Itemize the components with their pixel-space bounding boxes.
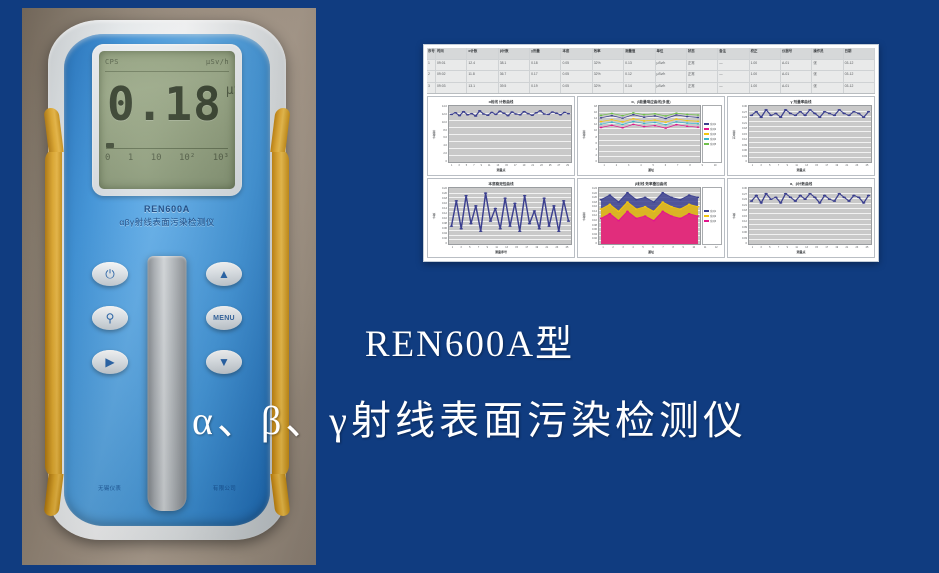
chart-y-tick: 0.14	[587, 210, 597, 213]
chart-data-point	[688, 204, 691, 206]
chart-y-tick: 0.14	[437, 207, 447, 210]
chart-legend: 系列1系列2系列3	[702, 187, 722, 245]
chart-data-point	[679, 208, 682, 210]
slide-canvas: CPS μSv/h 0.18 μSv/h 011010²10³	[0, 0, 939, 573]
table-cell: 09:03	[436, 83, 467, 94]
chart-data-point	[697, 117, 700, 119]
chart-y-tick: 2.0	[437, 152, 447, 155]
chart-data-point	[675, 121, 678, 123]
chart-data-point	[764, 193, 767, 195]
chart-data-point	[653, 125, 656, 127]
chart-data-point	[621, 124, 624, 126]
chart-data-point	[664, 124, 667, 126]
chart-y-axis-label: 计数率	[580, 105, 587, 163]
table-cell: 0.05	[561, 60, 592, 71]
chart-y-tick: 0.22	[437, 187, 447, 190]
chart-y-tick: 0.20	[587, 196, 597, 199]
chart-data-point	[670, 197, 673, 199]
table-header-cell: 操作员	[812, 48, 843, 59]
chart-series-line	[751, 110, 868, 117]
chart-legend-label: 系列2	[710, 214, 716, 218]
chart-y-axis-label: 计数	[430, 187, 437, 245]
chart-y-tick: 14.0	[437, 105, 447, 108]
table-row: 序号时间α计数β计数γ剂量本底效率测量值单位状态备注校正仪器号操作员日期	[427, 48, 875, 60]
title-block: REN600A型 α、β、γ射线表面污染检测仪	[0, 318, 939, 454]
table-header-cell: 时间	[436, 48, 467, 59]
table-cell: 11.8	[467, 71, 498, 82]
chart-panel: 本底稳定性曲线计数0.220.200.180.160.140.120.100.0…	[427, 178, 575, 258]
chart-legend-label: 系列5	[710, 142, 716, 146]
chart-panel: β射线 效率叠加曲线计数率0.240.220.200.180.160.140.1…	[577, 178, 725, 258]
chart-data-point	[833, 115, 836, 117]
lcd-reading: 0.18 μSv/h	[107, 75, 229, 133]
chart-data-point	[455, 200, 458, 202]
chart-y-ticks: 0.300.270.240.210.180.150.120.090.060.03…	[737, 105, 748, 163]
table-cell: 36.7	[499, 71, 530, 82]
lcd-screen: CPS μSv/h 0.18 μSv/h 011010²10³	[99, 51, 235, 189]
chart-y-tick: 0.12	[737, 220, 747, 223]
chart-data-point	[794, 200, 797, 202]
chart-data-point	[794, 115, 797, 117]
chart-legend-swatch	[704, 143, 709, 146]
chart-series-line	[601, 115, 698, 119]
table-header-cell: γ剂量	[530, 48, 561, 59]
chart-y-tick: 0.12	[737, 138, 747, 141]
charts-grid: α射线 计数曲线计数率14.012.010.08.06.04.02.001357…	[427, 96, 875, 258]
table-cell: A-01	[781, 83, 812, 94]
chart-data-point	[632, 124, 635, 126]
chart-legend-swatch	[704, 123, 709, 126]
chart-data-point	[697, 126, 700, 128]
chart-data-point	[608, 204, 611, 206]
chart-y-tick: 0.27	[737, 111, 747, 114]
chart-y-tick: 0.24	[737, 198, 747, 201]
chart-data-point	[653, 115, 656, 117]
chart-data-point	[686, 122, 689, 124]
chart-y-tick: 8	[587, 136, 597, 139]
table-cell: 09:01	[436, 60, 467, 71]
chart-legend-item: 系列1	[704, 122, 720, 126]
chart-data-point	[510, 111, 513, 113]
table-header-cell: 状态	[687, 48, 718, 59]
chart-data-point	[653, 122, 656, 124]
lcd-bezel: CPS μSv/h 0.18 μSv/h 011010²10³	[92, 44, 242, 196]
table-cell: A-01	[781, 60, 812, 71]
chart-y-tick: 0.22	[587, 192, 597, 195]
chart-data-point	[552, 205, 555, 207]
chart-data-point	[697, 206, 700, 208]
chart-y-tick: 0.15	[737, 133, 747, 136]
chart-data-point	[626, 211, 629, 213]
chart-y-tick: 0.16	[437, 202, 447, 205]
chart-data-point	[458, 115, 461, 117]
chart-panel: α射线 计数曲线计数率14.012.010.08.06.04.02.001357…	[427, 96, 575, 176]
product-photo: CPS μSv/h 0.18 μSv/h 011010²10³	[22, 8, 316, 565]
table-header-cell: 日期	[844, 48, 875, 59]
table-cell: 3	[427, 83, 436, 94]
lcd-divider	[105, 71, 229, 72]
table-header-cell: 备注	[718, 48, 749, 59]
chart-data-point	[653, 119, 656, 121]
chart-data-point	[450, 225, 453, 227]
spreadsheet-table: 序号时间α计数β计数γ剂量本底效率测量值单位状态备注校正仪器号操作员日期109:…	[427, 48, 875, 94]
chart-legend-label: 系列3	[710, 132, 716, 136]
chart-plot-area	[598, 187, 701, 245]
chart-data-point	[484, 192, 487, 194]
device-subtitle-label: αβγ射线表面污染检测仪	[64, 216, 270, 228]
table-cell: 32%	[593, 71, 624, 82]
chart-y-tick: 0.06	[737, 149, 747, 152]
chart-data-point	[514, 113, 517, 115]
table-cell: μSv/h	[656, 71, 687, 82]
table-header-cell: 本底	[561, 48, 592, 59]
chart-data-point	[600, 115, 603, 117]
chart-data-point	[643, 123, 646, 125]
chart-data-point	[632, 112, 635, 114]
chart-data-point	[847, 200, 850, 202]
chart-data-point	[600, 127, 603, 129]
chart-data-point	[600, 199, 603, 201]
table-cell: 1.00	[750, 83, 781, 94]
lcd-scale-tick: 10²	[179, 153, 195, 163]
chart-y-ticks: 0.240.220.200.180.160.140.120.100.080.06…	[587, 187, 598, 245]
chart-data-point	[803, 198, 806, 200]
chart-data-point	[621, 121, 624, 123]
chart-data-point	[551, 111, 554, 113]
chart-data-point	[697, 215, 700, 217]
chart-data-point	[675, 118, 678, 120]
chart-y-tick: 0.21	[737, 122, 747, 125]
device-model-label: REN600A	[64, 204, 270, 214]
chart-data-point	[852, 111, 855, 113]
chart-data-point	[632, 114, 635, 116]
chart-data-point	[838, 193, 841, 195]
chart-x-axis-label: 测量点	[730, 168, 872, 173]
chart-data-point	[862, 116, 865, 118]
table-cell: 0.05	[561, 83, 592, 94]
chart-data-point	[526, 113, 529, 115]
chart-data-point	[567, 113, 570, 115]
chart-y-tick: 0.16	[587, 205, 597, 208]
chart-data-point	[462, 111, 465, 113]
chart-x-axis-label: 道址	[580, 250, 722, 255]
chart-legend-swatch	[704, 128, 709, 131]
chart-data-point	[498, 110, 501, 112]
table-cell: 0.05	[561, 71, 592, 82]
power-icon: ⏻	[105, 268, 115, 280]
chart-data-point	[600, 208, 603, 210]
chart-y-tick: 0.06	[737, 231, 747, 234]
chart-data-point	[459, 228, 462, 230]
chart-data-point	[643, 114, 646, 116]
chart-data-point	[803, 115, 806, 117]
chart-y-tick: 0.02	[437, 237, 447, 240]
chart-data-point	[789, 113, 792, 115]
chart-data-point	[838, 109, 841, 111]
lcd-bargraph	[106, 139, 228, 151]
chart-data-point	[784, 193, 787, 195]
chart-data-point	[686, 116, 689, 118]
chart-y-ticks: 181614121086420	[587, 105, 598, 163]
lcd-scale-tick: 1	[128, 153, 133, 163]
chart-data-point	[842, 197, 845, 199]
chart-data-point	[600, 121, 603, 123]
chart-data-point	[644, 197, 647, 199]
chart-data-point	[818, 202, 821, 204]
chart-data-point	[679, 199, 682, 201]
chart-data-point	[522, 111, 525, 113]
chart-data-point	[610, 115, 613, 117]
table-cell: 03-12	[844, 60, 875, 71]
power-button[interactable]: ⏻	[92, 262, 128, 286]
chart-data-point	[653, 113, 656, 115]
table-header-cell: 仪器号	[781, 48, 812, 59]
chart-data-point	[828, 113, 831, 115]
chart-data-point	[813, 197, 816, 199]
chart-data-point	[523, 195, 526, 197]
chart-legend-label: 系列1	[710, 209, 716, 213]
chart-data-point	[474, 205, 477, 207]
chart-y-tick: 0.09	[737, 226, 747, 229]
chart-data-point	[675, 124, 678, 126]
table-row: 309:0313.139.50.190.0532%0.14μSv/h正常—1.0…	[427, 83, 875, 94]
chart-data-point	[688, 213, 691, 215]
chart-data-point	[643, 126, 646, 128]
chart-data-point	[652, 201, 655, 203]
chart-data-point	[469, 223, 472, 225]
chart-y-tick: 0.04	[587, 233, 597, 236]
chart-data-point	[486, 114, 489, 116]
lcd-scale-tick: 0	[105, 153, 110, 163]
chart-series-line	[601, 113, 698, 116]
chart-data-point	[617, 211, 620, 213]
chart-data-point	[494, 208, 497, 210]
chart-y-axis-label: 计数	[730, 187, 737, 245]
chart-data-point	[750, 200, 753, 202]
chart-y-tick: 0.09	[737, 144, 747, 147]
chart-data-point	[644, 206, 647, 208]
table-cell: 12.4	[467, 60, 498, 71]
chart-data-point	[539, 110, 542, 112]
chart-data-point	[513, 202, 516, 204]
chart-data-point	[755, 195, 758, 197]
table-cell: 0.17	[530, 71, 561, 82]
chart-data-point	[608, 213, 611, 215]
table-header-cell: β计数	[499, 48, 530, 59]
lcd-scale: 011010²10³	[105, 153, 229, 163]
chart-y-ticks: 0.300.270.240.210.180.150.120.090.060.03…	[737, 187, 748, 245]
chart-y-tick: 8.0	[437, 129, 447, 132]
table-cell: 1.00	[750, 60, 781, 71]
table-header-cell: α计数	[467, 48, 498, 59]
chart-data-point	[610, 121, 613, 123]
chart-y-tick: 0.24	[737, 116, 747, 119]
chart-data-point	[482, 113, 485, 115]
chart-data-point	[828, 198, 831, 200]
chart-data-point	[499, 228, 502, 230]
chart-y-tick: 0.18	[737, 127, 747, 130]
chart-y-tick: 0.03	[737, 237, 747, 240]
chart-data-point	[664, 127, 667, 129]
chart-data-point	[506, 115, 509, 117]
chart-y-tick: 0.10	[587, 219, 597, 222]
chart-data-point	[808, 193, 811, 195]
chart-y-tick: 0.20	[437, 192, 447, 195]
chart-data-point	[450, 114, 453, 116]
chart-y-tick: 10	[587, 129, 597, 132]
chart-y-tick: 0.03	[737, 155, 747, 158]
up-button[interactable]: ▲	[206, 262, 242, 286]
chart-data-point	[808, 109, 811, 111]
chart-panel: α、β能量响应曲线(多道)计数率181614121086420系列1系列2系列3…	[577, 96, 725, 176]
table-cell: 0.18	[530, 60, 561, 71]
chart-series-line	[601, 122, 698, 125]
chart-data-point	[664, 118, 667, 120]
table-cell: 张	[812, 71, 843, 82]
chart-y-tick: 12	[587, 123, 597, 126]
chart-legend-label: 系列3	[710, 219, 716, 223]
chart-x-axis-label: 测量序号	[430, 250, 572, 255]
chart-data-point	[635, 208, 638, 210]
chart-data-point	[502, 112, 505, 114]
chart-data-point	[697, 114, 700, 116]
chart-y-axis-label: 计数率	[580, 187, 587, 245]
chart-legend-item: 系列2	[704, 214, 720, 218]
chart-data-point	[852, 195, 855, 197]
table-cell: 张	[812, 83, 843, 94]
table-cell: —	[718, 71, 749, 82]
chart-data-point	[632, 121, 635, 123]
chart-data-point	[686, 114, 689, 116]
chart-data-point	[643, 116, 646, 118]
table-cell: 09:02	[436, 71, 467, 82]
table-cell: 0.13	[624, 60, 655, 71]
table-header-cell: 测量值	[624, 48, 655, 59]
chart-data-point	[617, 220, 620, 222]
lcd-unit: μSv/h	[226, 83, 235, 98]
title-line-2: α、β、γ射线表面污染检测仪	[0, 388, 939, 454]
table-cell: 39.5	[499, 83, 530, 94]
chart-data-point	[799, 111, 802, 113]
chart-data-point	[528, 223, 531, 225]
table-cell: 正常	[687, 60, 718, 71]
chart-data-point	[600, 218, 603, 220]
device-footer-left: 无锡仪表	[98, 484, 121, 492]
chart-data-point	[769, 115, 772, 117]
chart-data-point	[686, 125, 689, 127]
chart-data-point	[652, 220, 655, 222]
table-header-cell: 序号	[427, 48, 436, 59]
chart-data-point	[675, 112, 678, 114]
table-cell: 正常	[687, 71, 718, 82]
chart-legend-swatch	[704, 138, 709, 141]
chart-data-point	[490, 112, 493, 114]
chart-series-line	[601, 124, 698, 128]
lcd-status-bar: CPS μSv/h	[105, 54, 229, 70]
table-cell: —	[718, 60, 749, 71]
table-cell: μSv/h	[656, 83, 687, 94]
lcd-scale-tick: 10³	[213, 153, 229, 163]
chart-data-point	[635, 199, 638, 201]
chart-data-point	[842, 113, 845, 115]
chart-data-point	[799, 195, 802, 197]
chart-plot-area	[748, 105, 872, 163]
chart-data-point	[608, 194, 611, 196]
chart-y-tick: 18	[587, 105, 597, 108]
chart-data-point	[626, 192, 629, 194]
table-cell: 0.12	[624, 71, 655, 82]
chart-legend-label: 系列2	[710, 127, 716, 131]
chart-legend-label: 系列4	[710, 137, 716, 141]
chart-data-point	[632, 118, 635, 120]
chart-plot-area	[448, 187, 572, 245]
chart-y-ticks: 14.012.010.08.06.04.02.00	[437, 105, 448, 163]
chart-legend-item: 系列4	[704, 137, 720, 141]
chart-y-axis-label: 计数率	[430, 105, 437, 163]
table-cell: 03-12	[844, 83, 875, 94]
chart-y-tick: 0.18	[437, 197, 447, 200]
chart-data-point	[823, 195, 826, 197]
chart-y-tick: 0.30	[737, 105, 747, 108]
chart-data-point	[697, 197, 700, 199]
chart-series-line	[751, 194, 868, 203]
chart-data-point	[679, 218, 682, 220]
chart-x-axis-label: 道址	[580, 168, 722, 173]
table-cell: 1	[427, 60, 436, 71]
chart-y-tick: 2	[587, 154, 597, 157]
chart-data-point	[697, 123, 700, 125]
chart-y-tick: 0.18	[587, 201, 597, 204]
chart-data-point	[508, 225, 511, 227]
chart-data-point	[555, 112, 558, 114]
chart-data-point	[531, 114, 534, 116]
chart-legend-swatch	[704, 133, 709, 136]
chart-data-point	[621, 117, 624, 119]
chart-legend-item: 系列1	[704, 209, 720, 213]
chart-data-point	[543, 113, 546, 115]
chart-data-point	[813, 113, 816, 115]
chart-y-tick: 0.30	[737, 187, 747, 190]
device-footer: 无锡仪表 有限公司	[64, 484, 270, 492]
table-cell: 32%	[593, 60, 624, 71]
chart-data-point	[503, 197, 506, 199]
chart-legend-swatch	[704, 215, 709, 218]
arrow-up-icon: ▲	[218, 268, 230, 280]
table-cell: 正常	[687, 83, 718, 94]
chart-y-tick: 0.04	[437, 232, 447, 235]
chart-y-tick: 6.0	[437, 136, 447, 139]
device-footer-right: 有限公司	[213, 484, 236, 492]
chart-data-point	[600, 117, 603, 119]
chart-y-tick: 0.12	[437, 212, 447, 215]
chart-data-point	[664, 121, 667, 123]
chart-data-point	[789, 197, 792, 199]
chart-data-point	[470, 113, 473, 115]
chart-data-point	[688, 194, 691, 196]
chart-legend: 系列1系列2系列3系列4系列5	[702, 105, 722, 163]
chart-legend-swatch	[704, 220, 709, 223]
chart-legend-item: 系列2	[704, 127, 720, 131]
chart-data-point	[664, 115, 667, 117]
chart-data-point	[518, 114, 521, 116]
chart-y-axis-label: 剂量率	[730, 105, 737, 163]
table-row: 209:0211.836.70.170.0532%0.12μSv/h正常—1.0…	[427, 71, 875, 83]
table-row: 109:0112.438.10.180.0532%0.13μSv/h正常—1.0…	[427, 60, 875, 72]
chart-data-point	[862, 202, 865, 204]
table-header-cell: 校正	[750, 48, 781, 59]
table-cell: μSv/h	[656, 60, 687, 71]
chart-legend-item: 系列3	[704, 132, 720, 136]
